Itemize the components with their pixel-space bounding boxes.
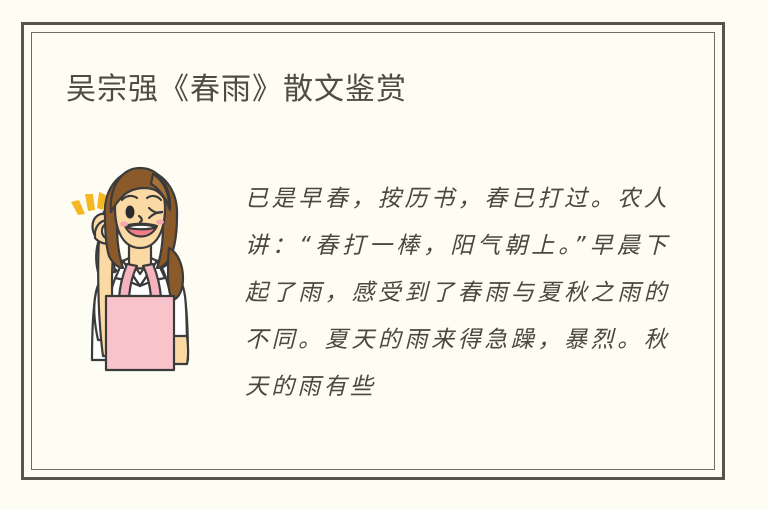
- winking-woman-ok-gesture-illustration: [65, 160, 215, 380]
- article-body-text: 已是早春，按历书，春已打过。农人讲：“春打一棒，阳气朝上。”早晨下起了雨，感受到…: [245, 176, 670, 411]
- article-content: 已是早春，按历书，春已打过。农人讲：“春打一棒，阳气朝上。”早晨下起了雨，感受到…: [32, 148, 714, 469]
- article-frame-inner: 吴宗强《春雨》散文鉴赏: [31, 32, 715, 470]
- sparkle-icon: [71, 192, 106, 215]
- article-page: 吴宗强《春雨》散文鉴赏: [0, 0, 768, 510]
- open-eye-icon: [126, 206, 135, 219]
- page-title: 吴宗强《春雨》散文鉴赏: [66, 70, 407, 110]
- article-paragraph: 已是早春，按历书，春已打过。农人讲：“春打一棒，阳气朝上。”早晨下起了雨，感受到…: [245, 176, 670, 411]
- article-frame-outer: 吴宗强《春雨》散文鉴赏: [21, 22, 725, 480]
